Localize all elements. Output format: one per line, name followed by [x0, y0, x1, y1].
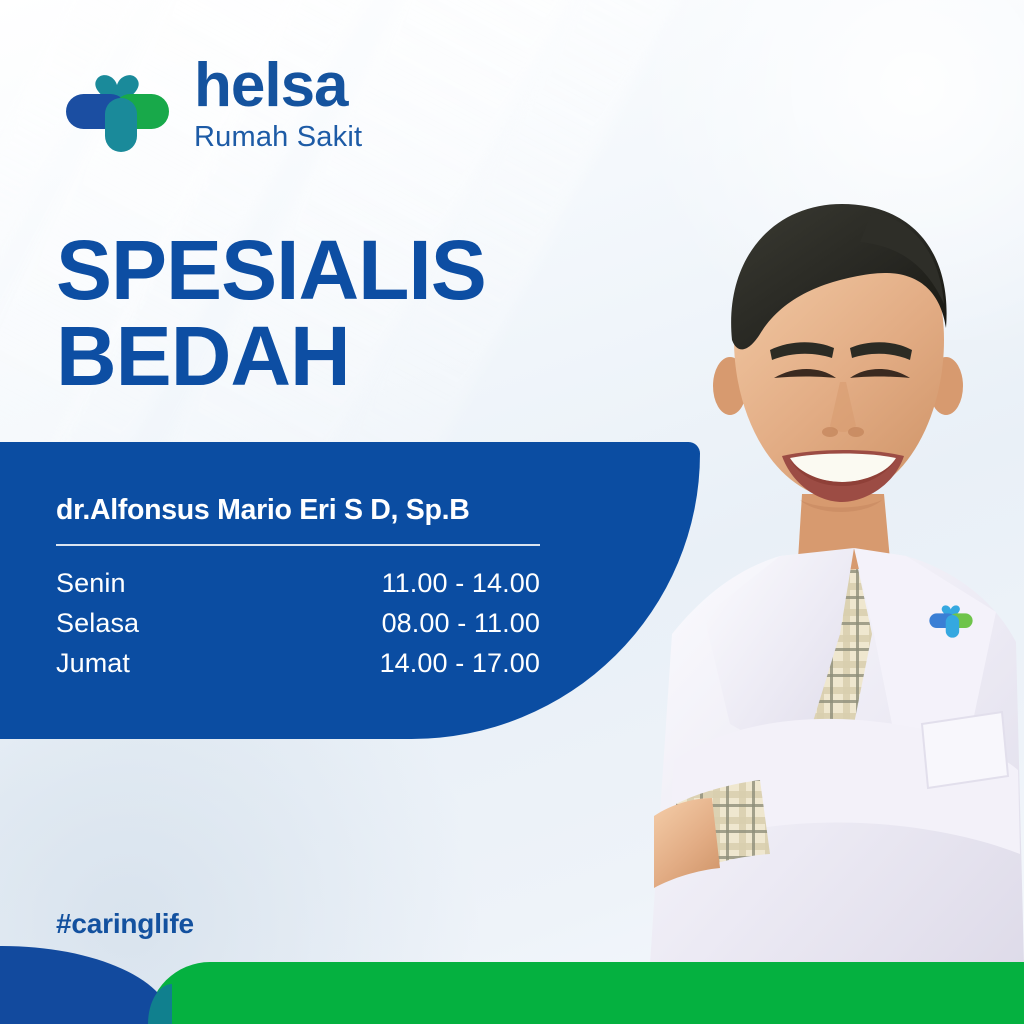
footer-green-band — [148, 962, 1024, 1024]
brand-subtitle: Rumah Sakit — [194, 123, 362, 152]
schedule-time: 08.00 - 11.00 — [382, 608, 540, 639]
page-title: SPESIALIS BEDAH — [56, 228, 486, 399]
page-title-line-2: BEDAH — [56, 314, 486, 400]
schedule-row: Senin 11.00 - 14.00 — [56, 568, 540, 599]
footer-decoration — [0, 944, 1024, 1024]
schedule-day: Selasa — [56, 608, 139, 639]
schedule-time: 11.00 - 14.00 — [382, 568, 540, 599]
hashtag: #caringlife — [56, 908, 194, 940]
schedule-day: Jumat — [56, 648, 130, 679]
brand-text: helsa Rumah Sakit — [194, 49, 362, 152]
schedule-row: Jumat 14.00 - 17.00 — [56, 648, 540, 679]
brand-logo: helsa Rumah Sakit — [58, 48, 362, 152]
doctor-name: dr.Alfonsus Mario Eri S D, Sp.B — [56, 494, 494, 527]
schedule-row: Selasa 08.00 - 11.00 — [56, 608, 540, 639]
divider — [56, 544, 540, 546]
helsa-tri-heart-logo-icon — [58, 48, 176, 152]
page-title-line-1: SPESIALIS — [56, 223, 486, 317]
footer-blue-arc — [0, 946, 172, 1024]
schedule-day: Senin — [56, 568, 126, 599]
poster-canvas: helsa Rumah Sakit SPESIALIS BEDAH — [0, 0, 1024, 1024]
schedule-time: 14.00 - 17.00 — [380, 648, 540, 679]
brand-name: helsa — [194, 55, 362, 117]
